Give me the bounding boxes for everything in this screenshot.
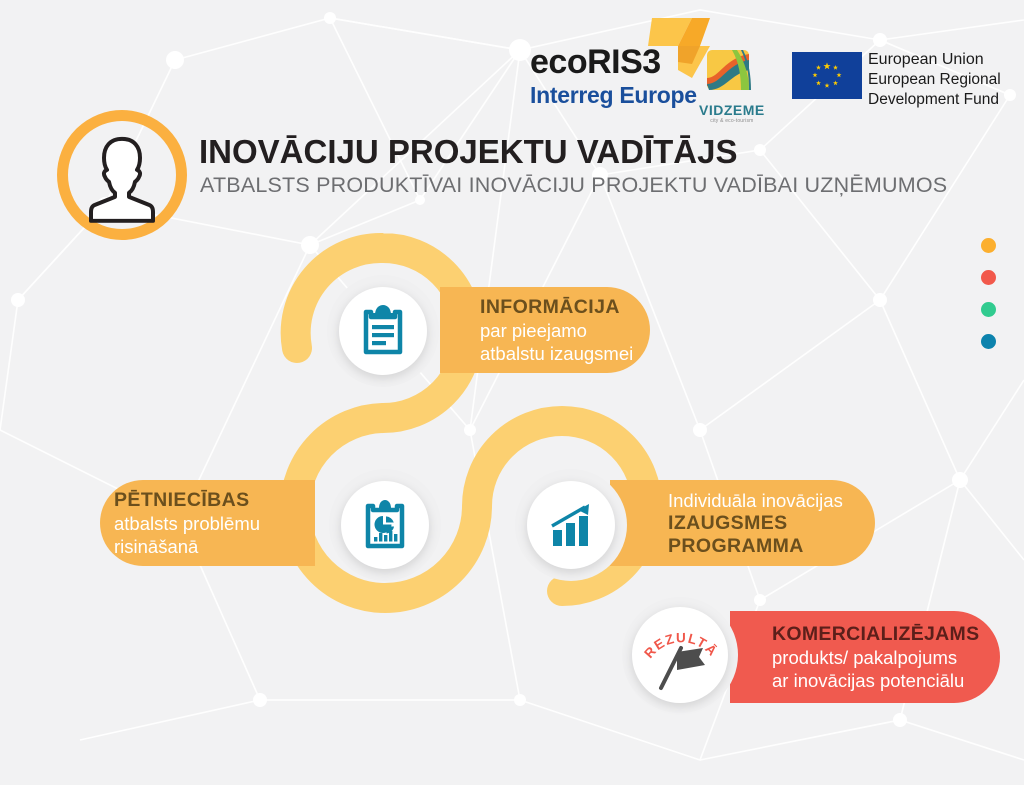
vidzeme-swoosh-icon <box>699 48 757 98</box>
step-informacija-heading: INFORMĀCIJA <box>480 295 650 319</box>
step-petniecibas-body-2: risināšanā <box>114 535 315 558</box>
person-icon <box>79 131 165 223</box>
step-izaugsmes-icon-circle[interactable] <box>527 481 615 569</box>
step-izaugsmes-body-1: Individuāla inovācijas <box>668 489 875 512</box>
step-petniecibas-pill[interactable]: PĒTNIECĪBAS atbalsts problēmu risināšanā <box>100 480 315 566</box>
dot-red <box>981 270 996 285</box>
vidzeme-logo: VIDZEME city & eco-tourism <box>699 48 765 124</box>
clipboard-lines-icon <box>357 303 409 359</box>
step-izaugsmes-heading-1: IZAUGSMES <box>668 512 875 535</box>
page-title: INOVĀCIJU PROJEKTU VADĪTĀJS <box>199 133 737 171</box>
vidzeme-tagline: city & eco-tourism <box>699 118 765 124</box>
ecoris3-wordmark: ecoRIS3 <box>530 44 697 80</box>
growth-bar-chart-icon <box>545 499 597 551</box>
vidzeme-wordmark: VIDZEME <box>699 103 765 118</box>
ecoris3-logo: ecoRIS3 Interreg Europe <box>530 44 697 108</box>
step-informacija-body-1: par pieejamo <box>480 319 650 342</box>
step-informacija-pill[interactable]: INFORMĀCIJA par pieejamo atbalstu izaugs… <box>440 287 650 373</box>
step-rezultats-body-1: produkts/ pakalpojums <box>772 646 1000 669</box>
dot-blue <box>981 334 996 349</box>
step-petniecibas-body-1: atbalsts problēmu <box>114 512 315 535</box>
step-rezultats-body-2: ar inovācijas potenciālu <box>772 669 1000 692</box>
dot-orange <box>981 238 996 253</box>
eu-line-1: European Union <box>868 50 1001 70</box>
eu-line-3: Development Fund <box>868 90 1001 110</box>
step-rezultats-pill[interactable]: KOMERCIALIZĒJAMS produkts/ pakalpojums a… <box>730 611 1000 703</box>
page-subtitle: ATBALSTS PRODUKTĪVAI INOVĀCIJU PROJEKTU … <box>200 173 947 198</box>
step-rezultats-icon-circle[interactable]: REZULTĀTS <box>632 607 728 703</box>
eu-line-2: European Regional <box>868 70 1001 90</box>
step-petniecibas-icon-circle[interactable] <box>341 481 429 569</box>
step-izaugsmes-heading-2: PROGRAMMA <box>668 535 875 558</box>
step-informacija-icon-circle[interactable] <box>339 287 427 375</box>
step-informacija-body-2: atbalstu izaugsmei <box>480 342 650 365</box>
infographic-canvas: ecoRIS3 Interreg Europe VIDZEME city & e… <box>0 0 1024 785</box>
dot-green <box>981 302 996 317</box>
step-petniecibas-heading: PĒTNIECĪBAS <box>114 488 315 512</box>
interreg-europe-text: Interreg Europe <box>530 82 697 108</box>
eu-fund-text: European Union European Regional Develop… <box>868 50 1001 110</box>
header-logos: ecoRIS3 Interreg Europe VIDZEME city & e… <box>0 0 1024 125</box>
legend-dots <box>981 238 996 366</box>
eu-flag-icon <box>792 52 862 99</box>
flag-icon: REZULTĀTS <box>633 608 727 702</box>
person-avatar-ring <box>57 110 187 240</box>
step-izaugsmes-programma-pill[interactable]: Individuāla inovācijas IZAUGSMES PROGRAM… <box>610 480 875 566</box>
step-rezultats-heading: KOMERCIALIZĒJAMS <box>772 622 1000 646</box>
clipboard-charts-icon <box>359 497 411 553</box>
